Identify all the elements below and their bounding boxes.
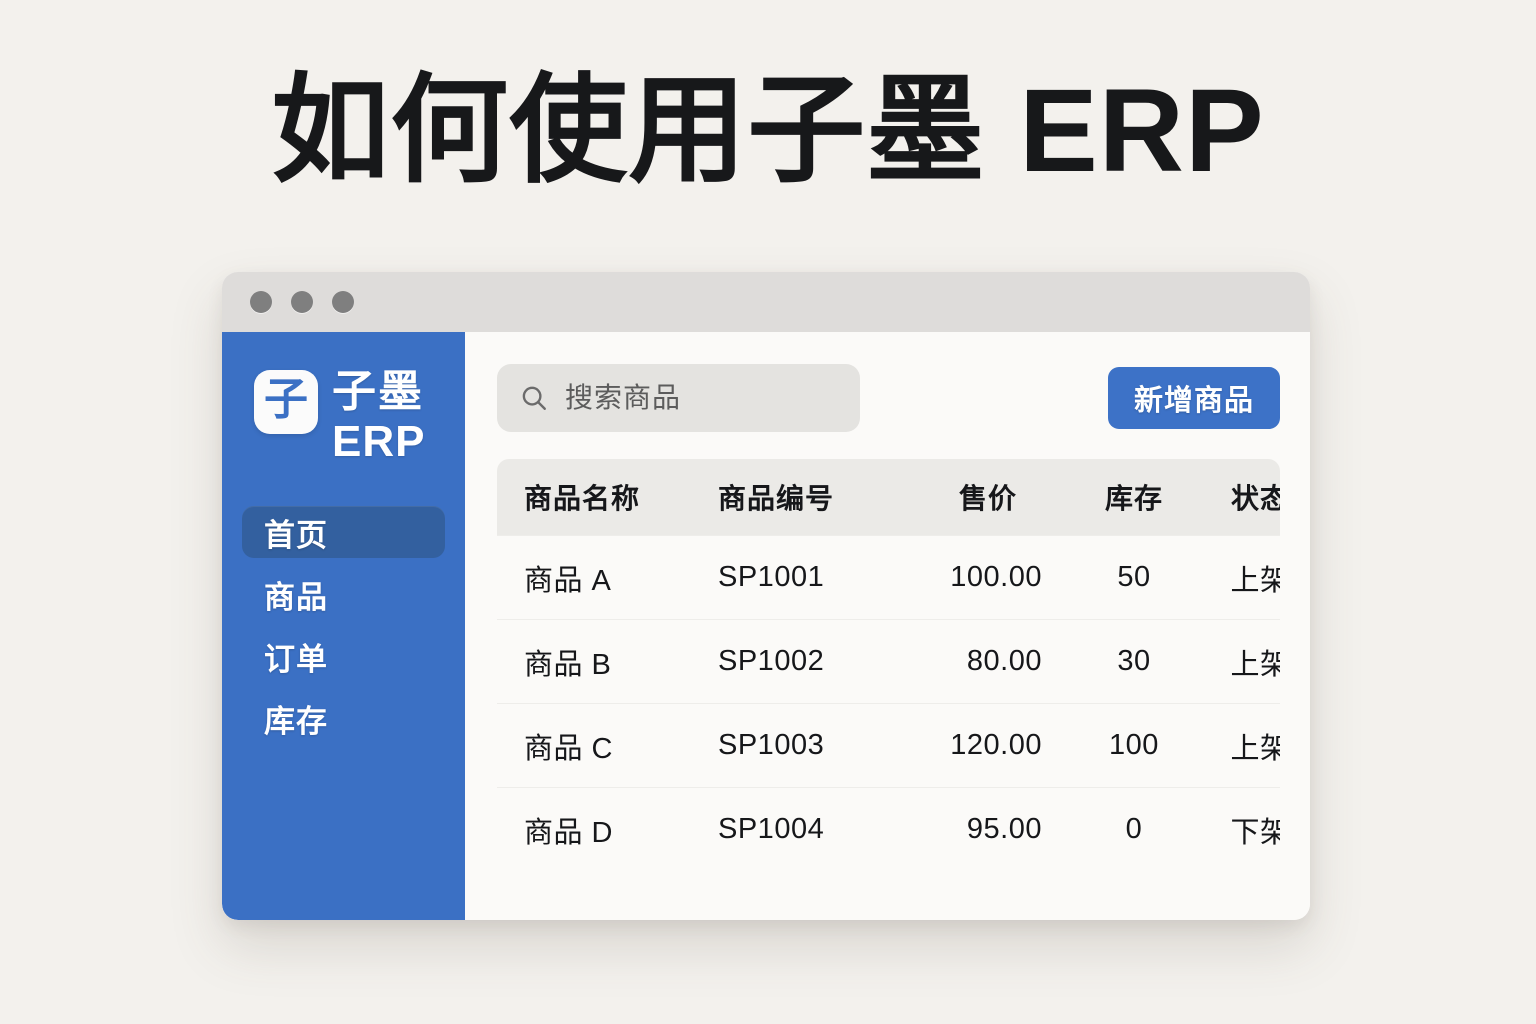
cell-stock: 0 <box>1068 813 1200 846</box>
table-row[interactable]: 商品 D SP1004 95.00 0 下架 <box>497 787 1280 871</box>
cell-code: SP1001 <box>718 561 908 594</box>
cell-status: 上架 <box>1200 641 1280 683</box>
cell-name: 商品 C <box>524 725 718 767</box>
sidebar-item-label: 库存 <box>264 696 328 741</box>
cell-status: 上架 <box>1200 725 1280 767</box>
sidebar-item-label: 商品 <box>264 572 328 617</box>
page-title: 如何使用子墨 ERP <box>0 62 1536 201</box>
sidebar-item-inventory[interactable]: 库存 <box>242 692 445 744</box>
column-header-code: 商品编号 <box>718 477 908 517</box>
sidebar-item-label: 订单 <box>264 634 328 679</box>
sidebar-item-home[interactable]: 首页 <box>242 506 445 558</box>
sidebar-item-products[interactable]: 商品 <box>242 568 445 620</box>
column-header-price: 售价 <box>908 477 1068 517</box>
cell-code: SP1003 <box>718 729 908 762</box>
cell-code: SP1004 <box>718 813 908 846</box>
browser-window: 子 子墨 ERP 首页 商品 订单 库存 <box>222 272 1310 920</box>
products-table: 商品名称 商品编号 售价 库存 状态 商品 A SP1001 100.00 50… <box>497 459 1280 871</box>
maximize-dot-icon[interactable] <box>332 291 354 313</box>
brand-mark-glyph: 子 <box>264 378 308 422</box>
cell-stock: 30 <box>1068 645 1200 678</box>
brand-logo[interactable]: 子 子墨 ERP <box>222 362 465 464</box>
search-icon <box>519 383 549 413</box>
cell-status: 上架 <box>1200 557 1280 599</box>
cell-price: 120.00 <box>908 729 1068 762</box>
minimize-dot-icon[interactable] <box>291 291 313 313</box>
cell-stock: 50 <box>1068 561 1200 594</box>
sidebar-item-label: 首页 <box>264 510 328 555</box>
cell-status: 下架 <box>1200 809 1280 851</box>
search-field[interactable] <box>497 364 860 432</box>
table-row[interactable]: 商品 C SP1003 120.00 100 上架 <box>497 703 1280 787</box>
cell-price: 95.00 <box>908 813 1068 846</box>
brand-mark-icon: 子 <box>254 370 318 434</box>
column-header-stock: 库存 <box>1068 477 1200 517</box>
table-row[interactable]: 商品 B SP1002 80.00 30 上架 <box>497 619 1280 703</box>
column-header-name: 商品名称 <box>524 477 718 517</box>
window-titlebar <box>222 272 1310 332</box>
main-content: 新增商品 商品名称 商品编号 售价 库存 状态 商品 A SP1001 100.… <box>465 332 1310 920</box>
sidebar-nav: 首页 商品 订单 库存 <box>222 506 465 744</box>
sidebar-item-orders[interactable]: 订单 <box>242 630 445 682</box>
cell-name: 商品 A <box>524 557 718 599</box>
sidebar: 子 子墨 ERP 首页 商品 订单 库存 <box>222 332 465 920</box>
cell-code: SP1002 <box>718 645 908 678</box>
brand-name-en: ERP <box>332 420 425 464</box>
search-input[interactable] <box>565 382 838 414</box>
add-product-button[interactable]: 新增商品 <box>1108 367 1280 429</box>
cell-price: 100.00 <box>908 561 1068 594</box>
table-header-row: 商品名称 商品编号 售价 库存 状态 <box>497 459 1280 535</box>
table-row[interactable]: 商品 A SP1001 100.00 50 上架 <box>497 535 1280 619</box>
column-header-status: 状态 <box>1200 477 1280 517</box>
cell-price: 80.00 <box>908 645 1068 678</box>
toolbar: 新增商品 <box>497 364 1280 432</box>
cell-stock: 100 <box>1068 729 1200 762</box>
close-dot-icon[interactable] <box>250 291 272 313</box>
window-body: 子 子墨 ERP 首页 商品 订单 库存 <box>222 332 1310 920</box>
cell-name: 商品 D <box>524 809 718 851</box>
cell-name: 商品 B <box>524 641 718 683</box>
brand-text: 子墨 ERP <box>332 370 425 464</box>
brand-name-cn: 子墨 <box>332 370 425 414</box>
